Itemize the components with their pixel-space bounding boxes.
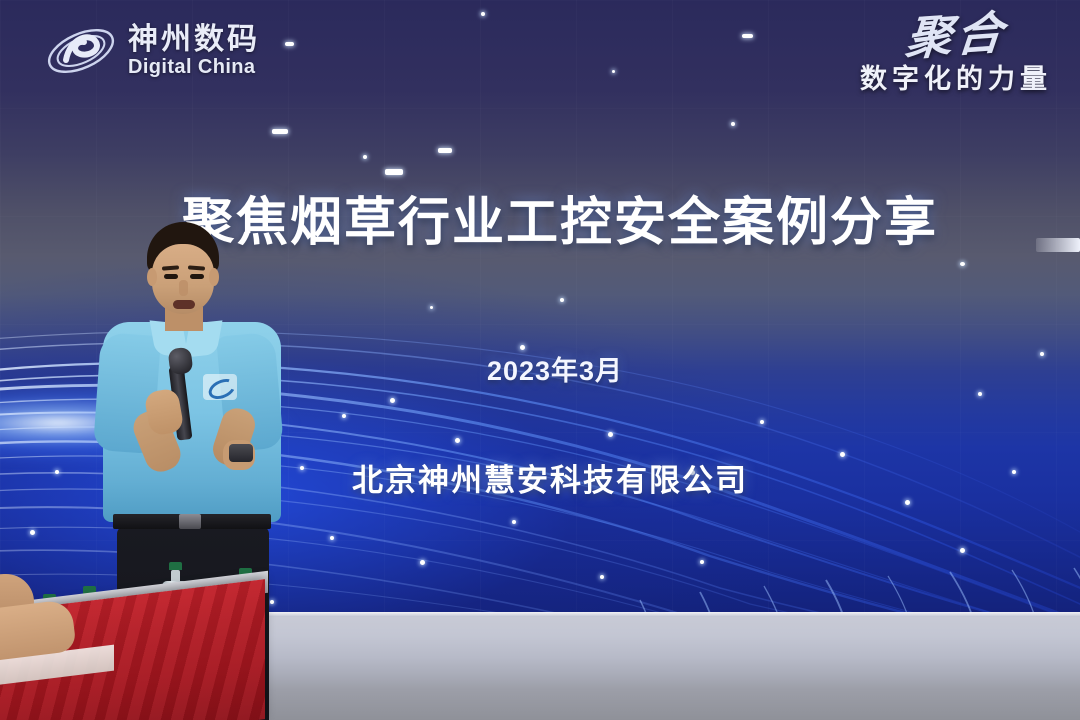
presentation-photo: 神州数码 Digital China 聚合 数字化的力量 聚焦烟草行业工控安全案…: [0, 0, 1080, 720]
swirl-spiral-icon: [44, 20, 118, 82]
logo-name-en: Digital China: [128, 56, 260, 78]
speaker-ear-left: [147, 268, 157, 286]
speaker-nose: [179, 280, 188, 296]
presenter-clicker: [229, 444, 253, 462]
digital-china-logo: 神州数码 Digital China: [44, 20, 260, 82]
logo-name-zh: 神州数码: [128, 24, 260, 56]
speaker-belt-buckle: [179, 514, 201, 529]
event-theme-logo: 聚合 数字化的力量: [860, 14, 1052, 93]
bottle-cap: [169, 562, 182, 570]
speaker-chest-logo: [203, 374, 237, 400]
event-theme-subtitle: 数字化的力量: [860, 66, 1052, 93]
speaker-eye-left: [164, 274, 178, 279]
event-theme-brush-text: 聚合: [857, 9, 1008, 65]
speaker-eye-right: [190, 274, 204, 279]
speaker-presenter: [95, 222, 295, 622]
speaker-mouth: [173, 300, 195, 309]
speaker-ear-right: [209, 268, 219, 286]
bottle-neck: [171, 570, 180, 581]
